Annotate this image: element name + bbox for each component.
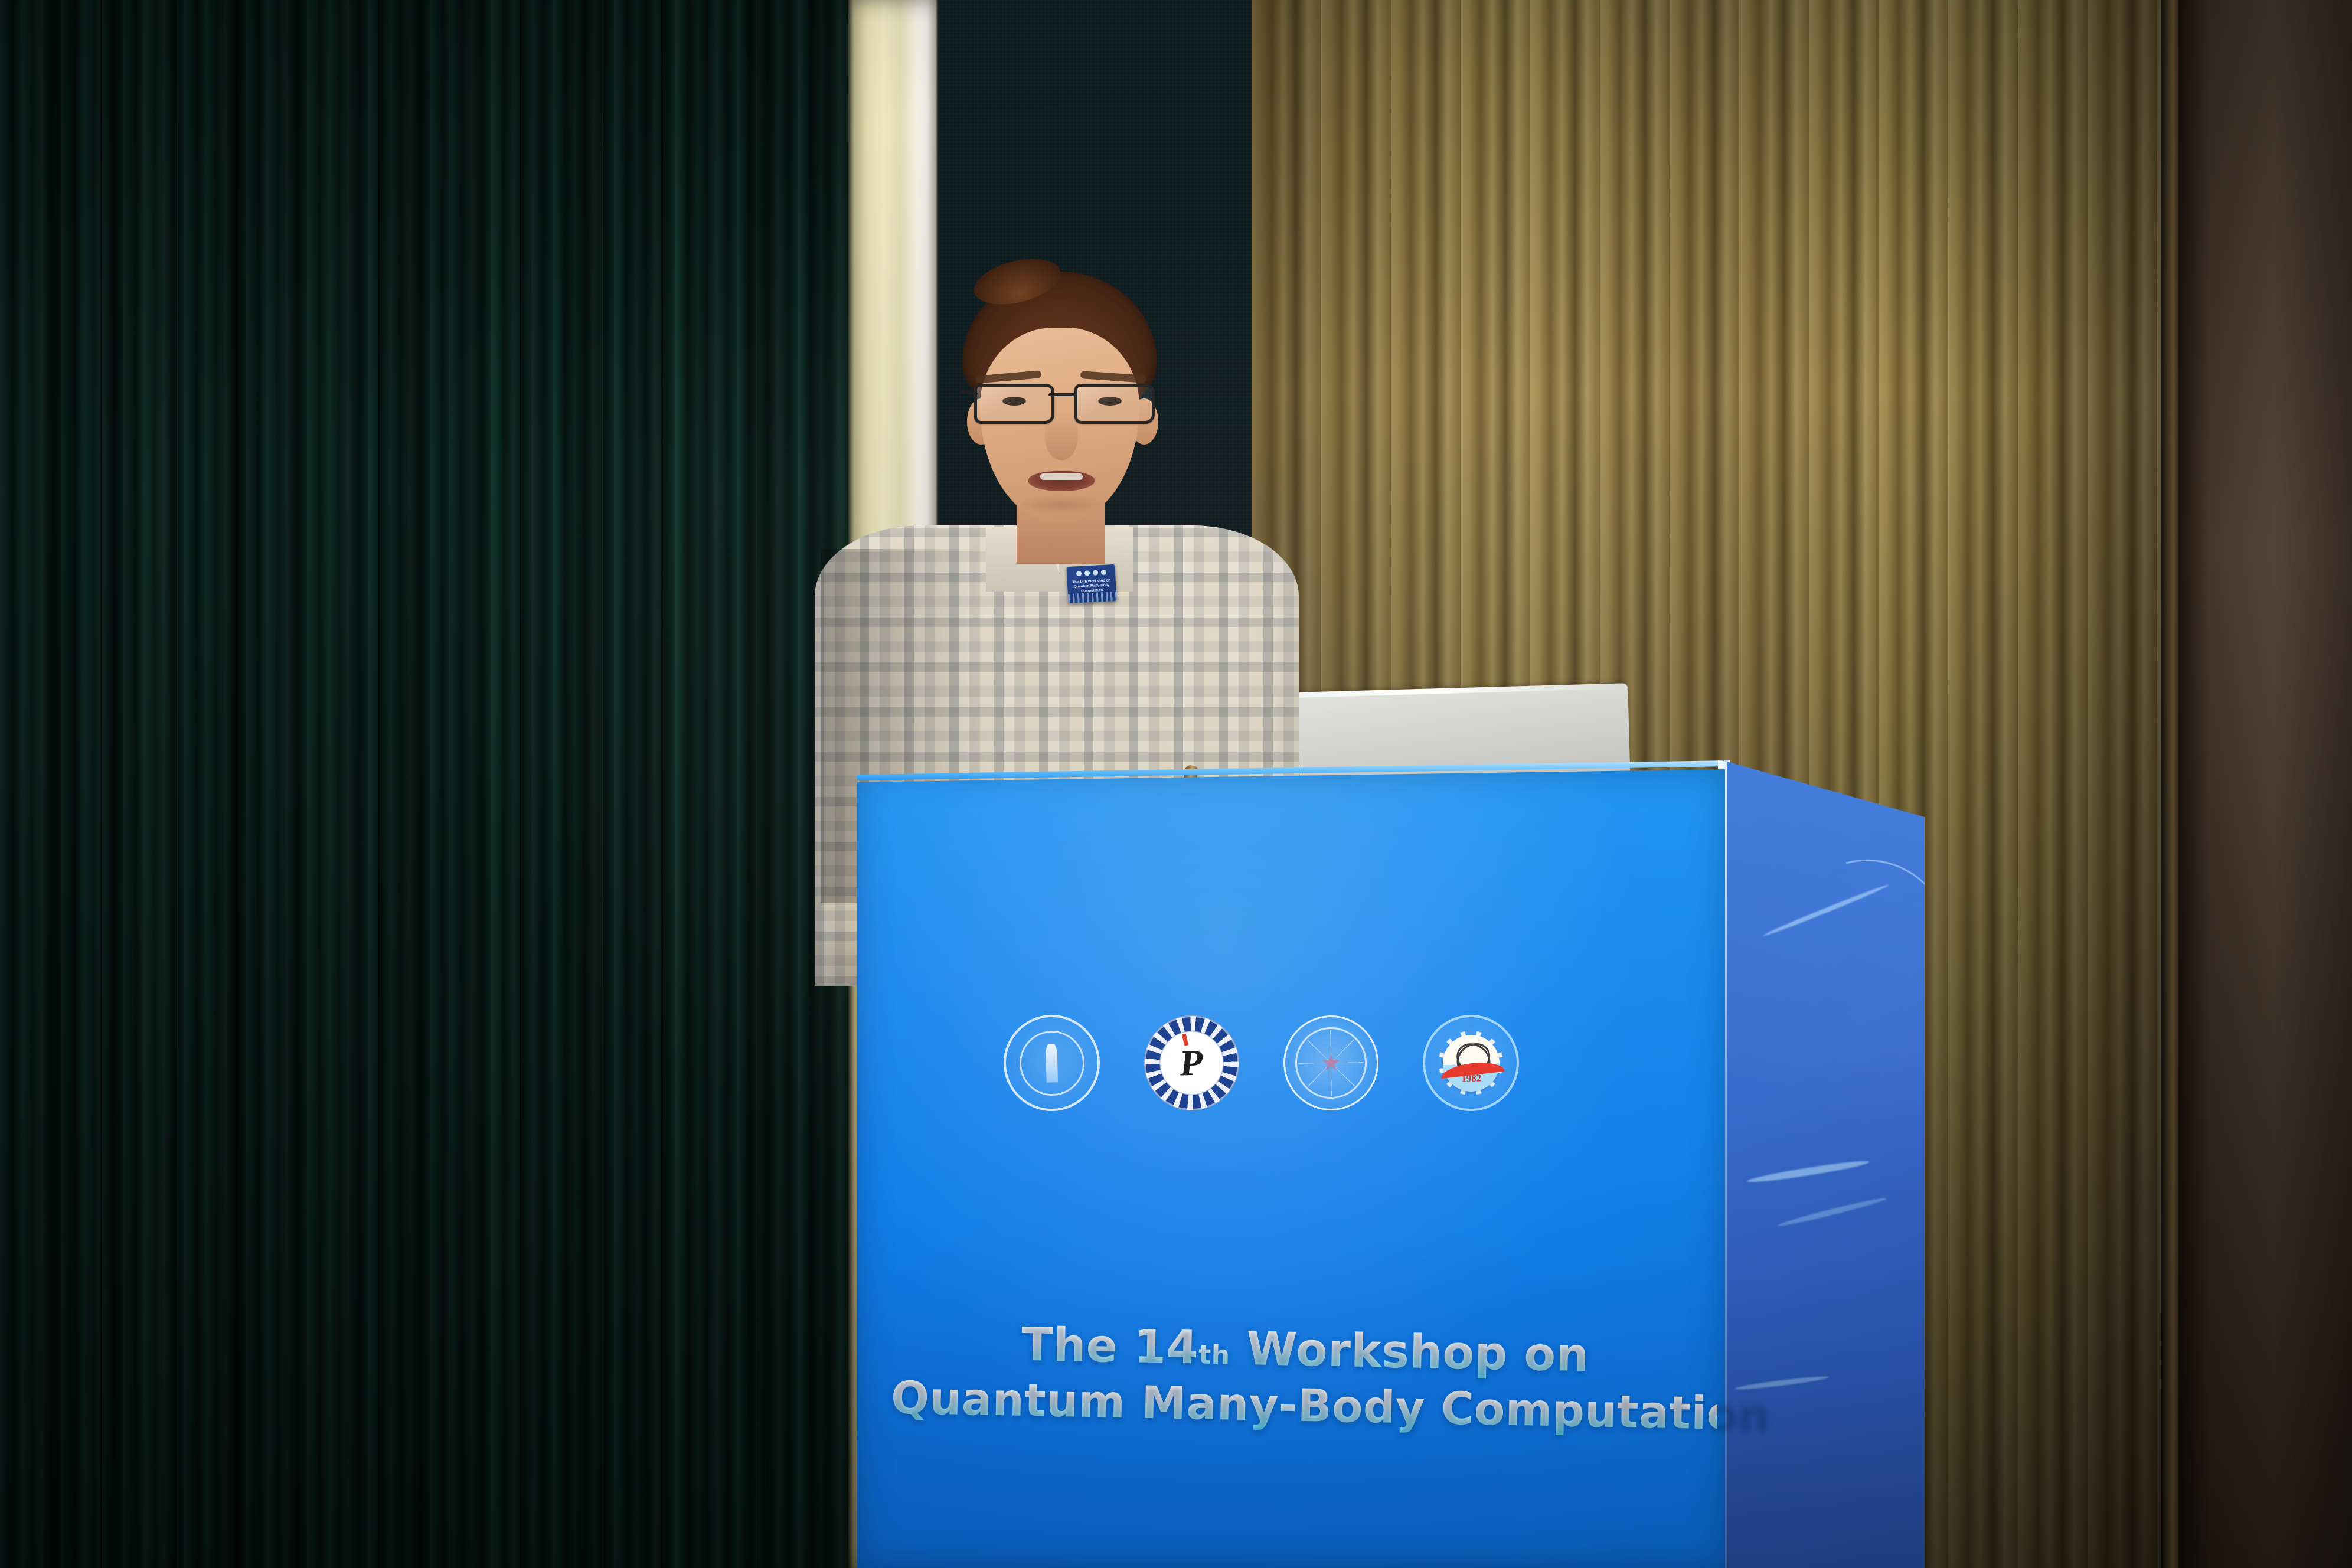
wall-panel-right [2178,0,2352,1568]
banner-number: 14 [1133,1320,1199,1374]
lens-right [1074,384,1155,424]
logo-beijing-normal-university [1002,1013,1101,1112]
podium-side-panel [1723,760,1925,1568]
stage-curtain-left [0,0,874,1568]
name-badge: The 14th Workshop on Quantum Many-Body C… [1066,564,1116,603]
logo-chinese-physical-society: P [1143,1014,1240,1111]
cps-p-glyph: P [1178,1044,1205,1081]
banner-workshop-on: Workshop on [1246,1322,1590,1382]
teeth [1040,473,1083,480]
podium-banner-title: The 14th Workshop on Quantum Many-Body C… [890,1315,1719,1442]
chin-shadow [1017,495,1105,515]
logo-university-seal [1282,1014,1380,1111]
podium-streak-2 [1746,1158,1870,1185]
podium-streak-3 [1777,1195,1887,1229]
badge-logo-dots [1067,569,1115,577]
bnu-inner-ring [1018,1030,1085,1096]
bnu-tower-icon [1038,1043,1066,1082]
lens-left [974,384,1054,424]
banner-the: The [1021,1318,1118,1373]
glasses-bridge [1048,393,1076,396]
eyeglasses [973,384,1150,422]
banner-ordinal: th [1198,1340,1230,1371]
conference-photo: The 14th Workshop on Quantum Many-Body C… [0,0,2352,1568]
podium-logo-row: P 1982 [1004,1004,1535,1122]
podium-front-panel [857,769,1725,1568]
logo-college-physics: 1982 [1422,1013,1520,1112]
college-physics-year: 1982 [1443,1072,1500,1085]
